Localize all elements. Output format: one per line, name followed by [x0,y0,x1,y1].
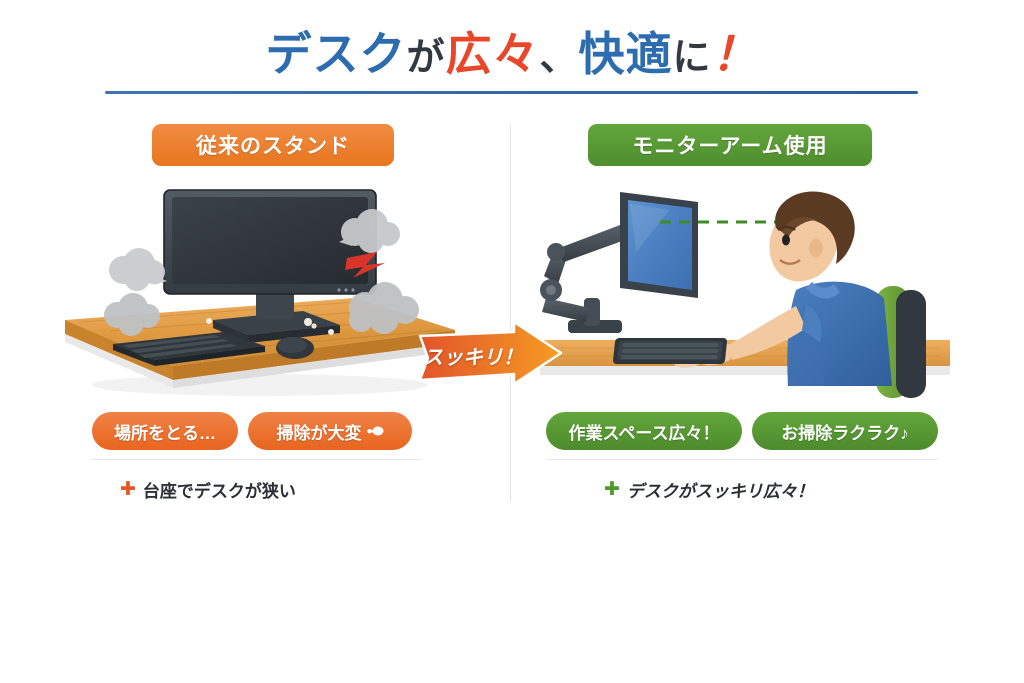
dust-cloud [109,248,167,291]
plus-icon: ✚ [604,480,620,499]
title-part-bang: ！ [712,18,759,84]
transition-arrow: スッキリ！ [418,322,563,388]
pill-easy-cleaning: お掃除ラクラク♪ [752,412,938,450]
pill-wide-workspace: 作業スペース広々！ [546,412,742,450]
caption-text: 台座でデスクが狭い [143,477,296,502]
title-part-desk: デスク [265,18,406,84]
pill-label: 場所をとる… [114,419,216,444]
title-part-kaiteki: 快適 [579,18,673,84]
infographic-canvas: デスクが広々、快適に！ 従来のスタンド モニターアーム使用 [0,0,1024,683]
left-footer-caption: ✚ 台座でデスクが狭い [120,477,296,502]
illustration-conventional-stand [55,180,475,405]
pill-hard-to-clean: 掃除が大変 [248,412,412,450]
badge-conventional-stand: 従来のスタンド [152,124,394,166]
badge-monitor-arm: モニターアーム使用 [588,124,872,166]
page-title: デスクが広々、快適に！ [0,18,1024,84]
keyboard [613,338,728,364]
pill-label: お掃除ラクラク♪ [781,419,909,444]
title-part-comma: 、 [539,26,578,81]
arrow-label: スッキリ！ [418,322,534,388]
pill-label: 作業スペース広々！ [569,419,720,444]
column-divider [510,124,511,502]
title-part-ni: に [673,26,712,81]
illustration-monitor-arm [520,180,970,405]
pill-label: 掃除が大変 [277,419,362,444]
pill-takes-space: 場所をとる… [92,412,238,450]
left-footer-separator [92,459,422,460]
right-footer-caption: ✚ デスクがスッキリ広々！ [604,477,814,502]
caption-text: デスクがスッキリ広々！ [627,477,814,502]
plus-icon: ✚ [120,480,136,499]
broom-icon [367,424,384,438]
title-part-hirobiro: 広々 [445,18,539,84]
title-part-ga: が [406,26,445,81]
title-underline-rule [105,91,918,94]
right-footer-separator [546,459,938,460]
